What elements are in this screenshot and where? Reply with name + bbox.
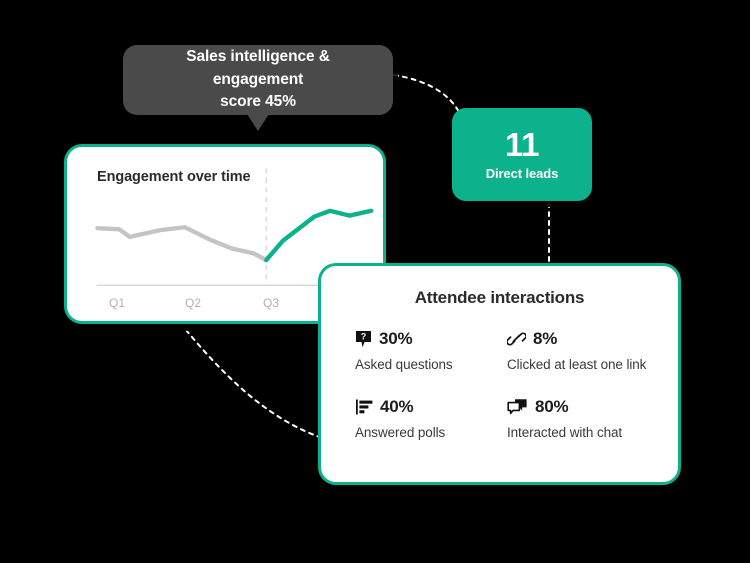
attendee-interactions-card: Attendee interactions ? 30% Asked questi… [318, 263, 681, 485]
tooltip-pointer-icon [247, 114, 269, 131]
stat-clicked-link: 8% Clicked at least one link [507, 328, 658, 372]
stat-head: 40% [355, 396, 507, 418]
stat-asked-questions: ? 30% Asked questions [355, 328, 507, 372]
chain-link-icon [507, 330, 526, 348]
attendee-interactions-title: Attendee interactions [321, 288, 678, 308]
chat-bubbles-icon [507, 398, 528, 416]
score-tooltip-text: Sales intelligence & engagement score 45… [123, 46, 393, 113]
score-tooltip-line2: score 45% [220, 93, 296, 110]
stat-description: Interacted with chat [507, 425, 658, 440]
stat-head: 8% [507, 328, 658, 350]
infographic-stage: Sales intelligence & engagement score 45… [0, 0, 750, 563]
direct-leads-card: 11 Direct leads [452, 108, 592, 201]
stat-head: 80% [507, 396, 658, 418]
attendee-stats-grid: ? 30% Asked questions 8% [355, 328, 658, 440]
stat-description: Answered polls [355, 425, 507, 440]
chart-tick-q3: Q3 [263, 296, 279, 310]
chart-series-past [97, 227, 266, 260]
stat-percent: 8% [533, 329, 557, 349]
question-bubble-icon: ? [355, 330, 372, 348]
score-tooltip: Sales intelligence & engagement score 45… [123, 45, 393, 115]
stat-head: ? 30% [355, 328, 507, 350]
score-tooltip-line1: Sales intelligence & engagement [186, 48, 330, 87]
chart-tick-q1: Q1 [109, 296, 125, 310]
direct-leads-count: 11 [505, 128, 539, 161]
stat-percent: 40% [380, 397, 413, 417]
stat-percent: 80% [535, 397, 568, 417]
chart-series-projected [266, 211, 371, 260]
svg-text:?: ? [361, 332, 367, 342]
chart-tick-q2: Q2 [185, 296, 201, 310]
direct-leads-label: Direct leads [486, 166, 559, 181]
stat-description: Clicked at least one link [507, 357, 658, 372]
stat-answered-polls: 40% Answered polls [355, 396, 507, 440]
connector-chart-to-interactions [186, 330, 322, 438]
stat-interacted-chat: 80% Interacted with chat [507, 396, 658, 440]
connector-tooltip-to-leads [394, 75, 459, 112]
poll-bars-icon [355, 398, 373, 416]
stat-description: Asked questions [355, 357, 507, 372]
stat-percent: 30% [379, 329, 412, 349]
